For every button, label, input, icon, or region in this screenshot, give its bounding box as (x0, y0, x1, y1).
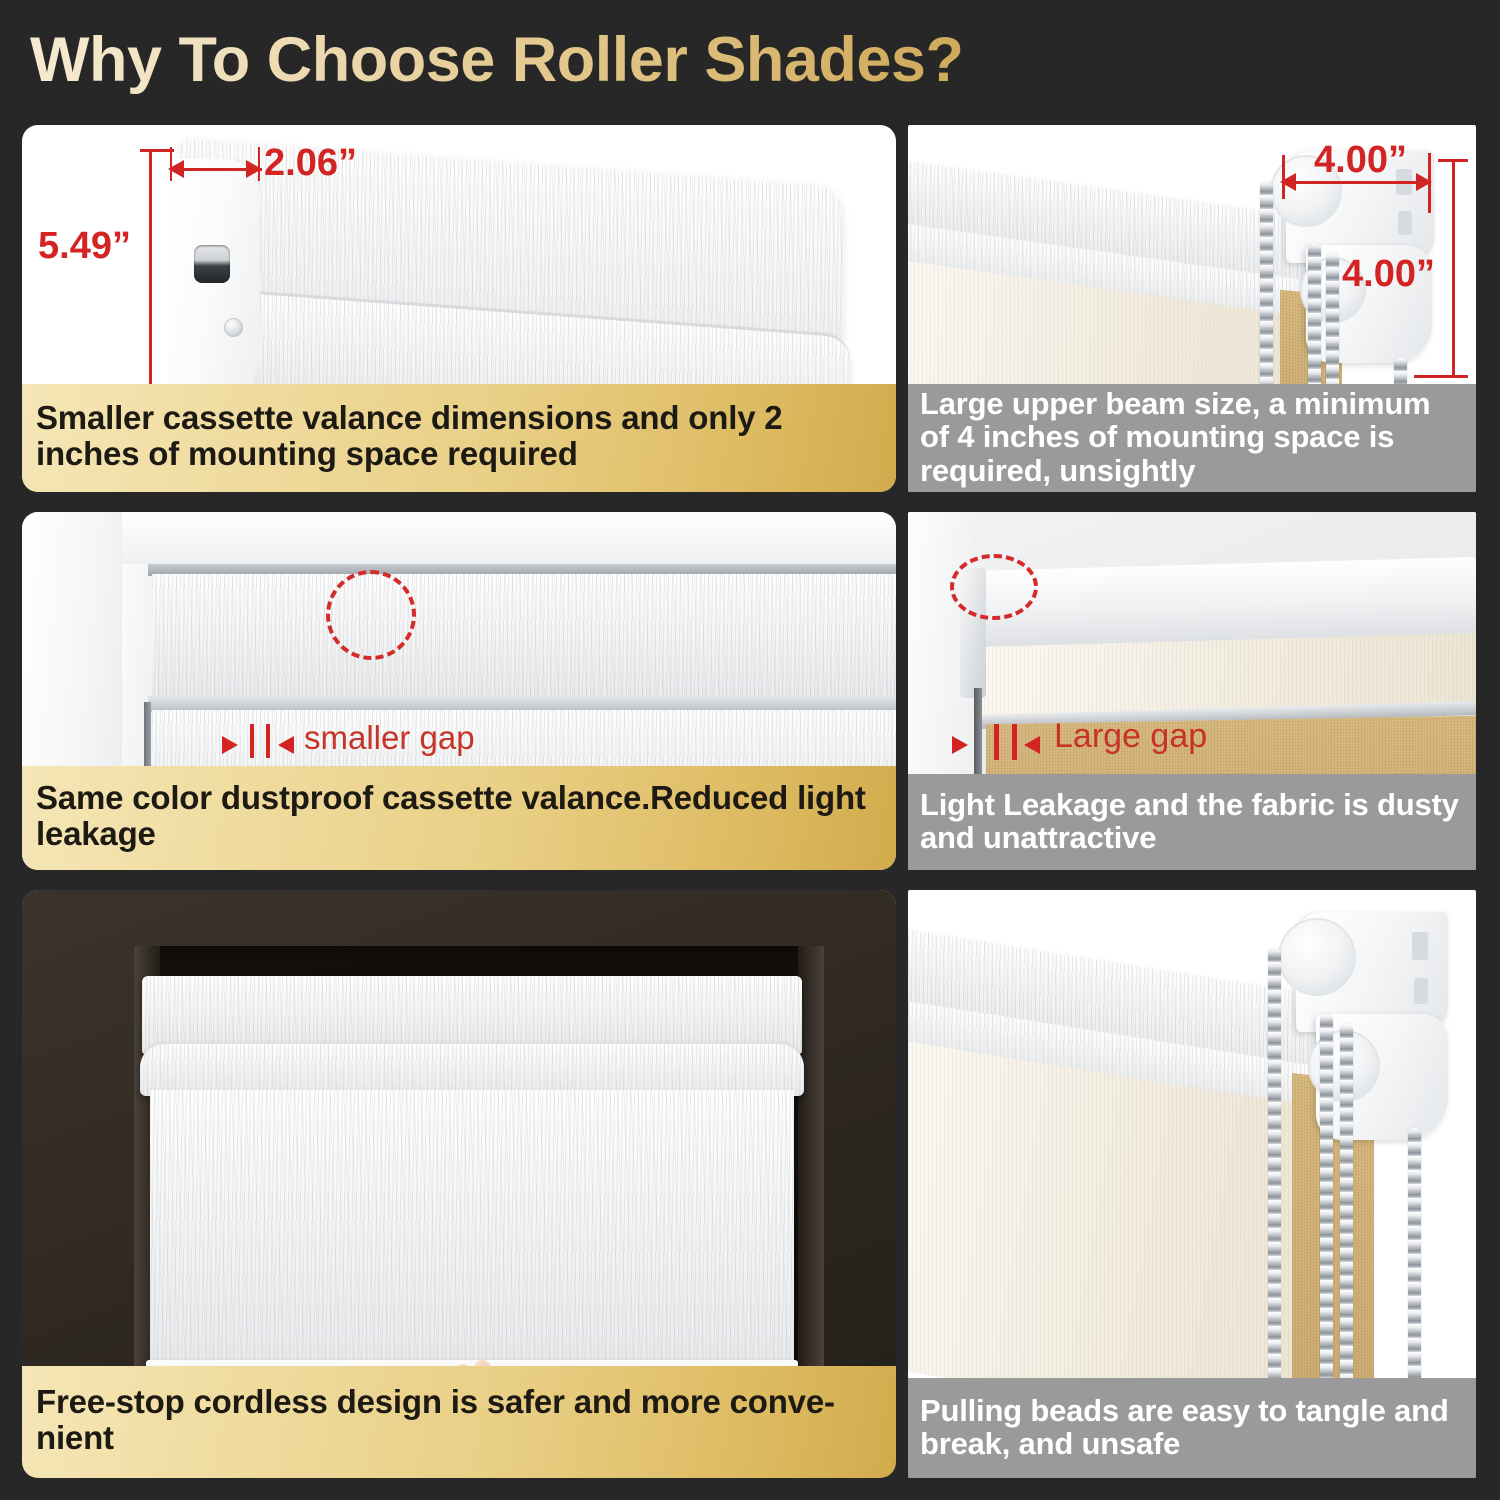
height-dim-line (149, 149, 152, 421)
panel-4-caption: Light Leakage and the fabric is dusty an… (908, 774, 1476, 870)
panel-smaller-cassette: 2.06” 5.49” Smaller cassette valance dim… (22, 125, 896, 492)
panel-5-caption-text: Free-stop cordless design is safer and m… (36, 1384, 882, 1455)
bracket-width-arrow-right (1416, 173, 1432, 191)
highlight-circle-icon (326, 570, 416, 660)
roller-bracket-slot-b (1398, 211, 1412, 235)
gap-tick-right (266, 724, 270, 758)
panel-4-caption-text: Light Leakage and the fabric is dusty an… (920, 788, 1464, 855)
gap-tick-left (250, 724, 254, 758)
panel-2-caption-text: Large upper beam size, a minimum of 4 in… (920, 387, 1464, 487)
panel-3-caption: Same color dustproof cassette valance.Re… (22, 766, 896, 870)
gap-tick-right (1012, 724, 1017, 760)
width-dimension-label: 2.06” (264, 142, 357, 185)
panel-cordless-design: Free-stop cordless design is safer and m… (22, 890, 896, 1478)
window-frame-head (122, 512, 896, 564)
shade-fabric (150, 1090, 794, 1370)
panel-6-caption: Pulling beads are easy to tangle and bre… (908, 1378, 1476, 1478)
panel-1-caption-text: Smaller cassette valance dimensions and … (36, 400, 882, 471)
bead-chain-b (1320, 1014, 1333, 1388)
roller-fabric (908, 1040, 1300, 1434)
gap-arrow-right (222, 736, 238, 754)
panel-5-caption: Free-stop cordless design is safer and m… (22, 1366, 896, 1478)
panel-large-upper-beam: 4.00” 4.00” Large upper beam size, a min… (908, 125, 1476, 492)
panel-smaller-gap: smaller gap Same color dustproof cassett… (22, 512, 896, 870)
bead-chain-d (1408, 1128, 1421, 1386)
bracket-width-arrow-left (1280, 173, 1296, 191)
panel-1-caption: Smaller cassette valance dimensions and … (22, 384, 896, 492)
roller-bracket-disc-upper (1278, 918, 1356, 996)
height-dimension-label: 5.49” (38, 225, 131, 268)
bracket-height-tick-top (1438, 159, 1468, 162)
gap-arrow-right (952, 736, 968, 754)
bead-chain-c (1340, 1024, 1353, 1388)
gap-arrow-left (278, 736, 294, 754)
width-dim-arrow-right (246, 160, 262, 178)
roller-bracket-slot-b (1414, 978, 1428, 1004)
gap-tick-left (994, 724, 999, 760)
page-title: Why To Choose Roller Shades? (30, 22, 1130, 98)
width-dim-arrow-left (168, 160, 184, 178)
bracket-height-label: 4.00” (1342, 253, 1435, 296)
large-gap-label: Large gap (1054, 717, 1207, 756)
bracket-width-label: 4.00” (1314, 139, 1407, 182)
height-dim-tick-top (140, 149, 174, 152)
highlight-circle-icon (950, 554, 1038, 620)
gap-arrow-left (1024, 736, 1040, 754)
panel-6-caption-text: Pulling beads are easy to tangle and bre… (920, 1394, 1464, 1461)
shade-section-upper (152, 574, 896, 702)
bead-chain-a (1268, 948, 1281, 1388)
roller-bracket-slot-a (1412, 932, 1428, 960)
smaller-gap-label: smaller gap (304, 719, 475, 757)
valance-spindle-hole (194, 245, 230, 283)
panel-3-caption-text: Same color dustproof cassette valance.Re… (36, 780, 882, 851)
valance-screw-top (224, 318, 243, 337)
bracket-height-line (1452, 159, 1455, 377)
bracket-height-tick-bottom (1414, 375, 1468, 378)
panel-pulling-beads: Pulling beads are easy to tangle and bre… (908, 890, 1476, 1478)
panel-large-gap: Large gap Light Leakage and the fabric i… (908, 512, 1476, 870)
panel-2-caption: Large upper beam size, a minimum of 4 in… (908, 384, 1476, 492)
shade-valance-lip (140, 1042, 804, 1096)
